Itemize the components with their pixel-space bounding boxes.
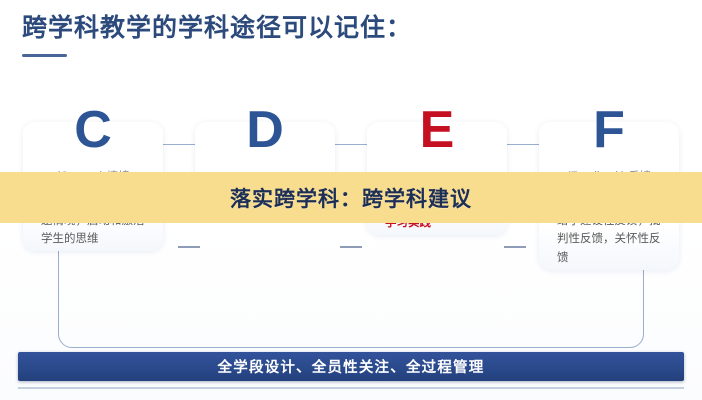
overlay-caption-band: 落实跨学科：跨学科建议 [0, 172, 702, 223]
card-row: C (Context) 情境 教师要创设真实的问题情境，启动和激活学生的思维 D… [18, 104, 684, 344]
title-block: 跨学科教学的学科途径可以记住： [22, 14, 662, 57]
card-letter-c: C [74, 104, 112, 156]
card-connector-dash [340, 246, 362, 248]
banner-underline-rule [18, 387, 684, 389]
overlay-caption-text: 落实跨学科：跨学科建议 [230, 183, 472, 213]
bottom-summary-banner: 全学段设计、全员性关注、全过程管理 [18, 352, 684, 381]
card-letter-d: D [246, 104, 284, 156]
page-title: 跨学科教学的学科途径可以记住： [22, 14, 662, 43]
cdef-diagram: C (Context) 情境 教师要创设真实的问题情境，启动和激活学生的思维 D… [18, 104, 684, 344]
bottom-banner-text: 全学段设计、全员性关注、全过程管理 [218, 356, 485, 377]
card-letter-e: E [420, 104, 455, 156]
card-letter-f: F [593, 104, 625, 156]
slide-canvas: 跨学科教学的学科途径可以记住： C (Context) 情境 教师要创设真实的问… [0, 0, 702, 400]
card-connector-dash [178, 246, 200, 248]
card-connector-dash [504, 246, 526, 248]
title-underline-rule [22, 54, 67, 57]
